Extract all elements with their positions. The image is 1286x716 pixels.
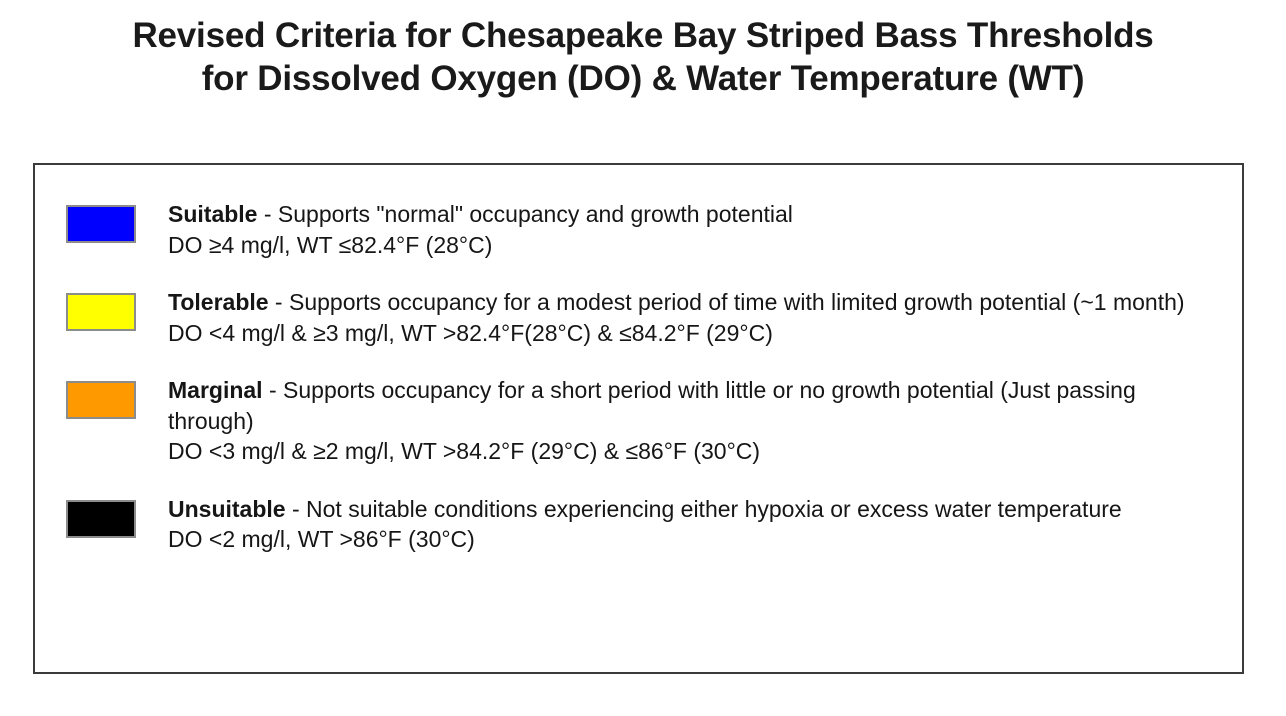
legend-label: Marginal [168, 377, 263, 403]
legend-description-text: Supports "normal" occupancy and growth p… [278, 201, 793, 227]
legend-separator: - [263, 377, 283, 403]
legend-panel: Suitable - Supports "normal" occupancy a… [33, 163, 1244, 674]
legend-separator: - [269, 289, 289, 315]
legend-separator: - [286, 496, 306, 522]
legend-separator: - [257, 201, 277, 227]
legend-label: Tolerable [168, 289, 269, 315]
legend-item-suitable: Suitable - Supports "normal" occupancy a… [35, 199, 1242, 260]
legend-description-text: Supports occupancy for a short period wi… [168, 377, 1136, 434]
legend-text: Unsuitable - Not suitable conditions exp… [168, 494, 1242, 555]
swatch-cell [35, 375, 168, 419]
page-title-line-2: for Dissolved Oxygen (DO) & Water Temper… [0, 57, 1286, 100]
legend-text: Suitable - Supports "normal" occupancy a… [168, 199, 1242, 260]
legend-list: Suitable - Supports "normal" occupancy a… [35, 165, 1242, 582]
legend-item-unsuitable: Unsuitable - Not suitable conditions exp… [35, 494, 1242, 555]
legend-text: Tolerable - Supports occupancy for a mod… [168, 287, 1242, 348]
legend-label: Unsuitable [168, 496, 286, 522]
page-title-line-1: Revised Criteria for Chesapeake Bay Stri… [0, 14, 1286, 57]
legend-criteria: DO <2 mg/l, WT >86°F (30°C) [168, 524, 1224, 555]
legend-description: Marginal - Supports occupancy for a shor… [168, 375, 1224, 436]
marginal-swatch [66, 381, 136, 419]
legend-criteria: DO ≥4 mg/l, WT ≤82.4°F (28°C) [168, 230, 1224, 261]
tolerable-swatch [66, 293, 136, 331]
legend-item-marginal: Marginal - Supports occupancy for a shor… [35, 375, 1242, 467]
suitable-swatch [66, 205, 136, 243]
legend-item-tolerable: Tolerable - Supports occupancy for a mod… [35, 287, 1242, 348]
page-title: Revised Criteria for Chesapeake Bay Stri… [0, 14, 1286, 100]
legend-description-text: Not suitable conditions experiencing eit… [306, 496, 1122, 522]
unsuitable-swatch [66, 500, 136, 538]
legend-text: Marginal - Supports occupancy for a shor… [168, 375, 1242, 467]
legend-description: Tolerable - Supports occupancy for a mod… [168, 287, 1224, 318]
legend-criteria: DO <3 mg/l & ≥2 mg/l, WT >84.2°F (29°C) … [168, 436, 1224, 467]
legend-description-text: Supports occupancy for a modest period o… [289, 289, 1185, 315]
legend-label: Suitable [168, 201, 257, 227]
legend-description: Suitable - Supports "normal" occupancy a… [168, 199, 1224, 230]
legend-criteria: DO <4 mg/l & ≥3 mg/l, WT >82.4°F(28°C) &… [168, 318, 1224, 349]
swatch-cell [35, 199, 168, 243]
legend-description: Unsuitable - Not suitable conditions exp… [168, 494, 1224, 525]
swatch-cell [35, 494, 168, 538]
swatch-cell [35, 287, 168, 331]
